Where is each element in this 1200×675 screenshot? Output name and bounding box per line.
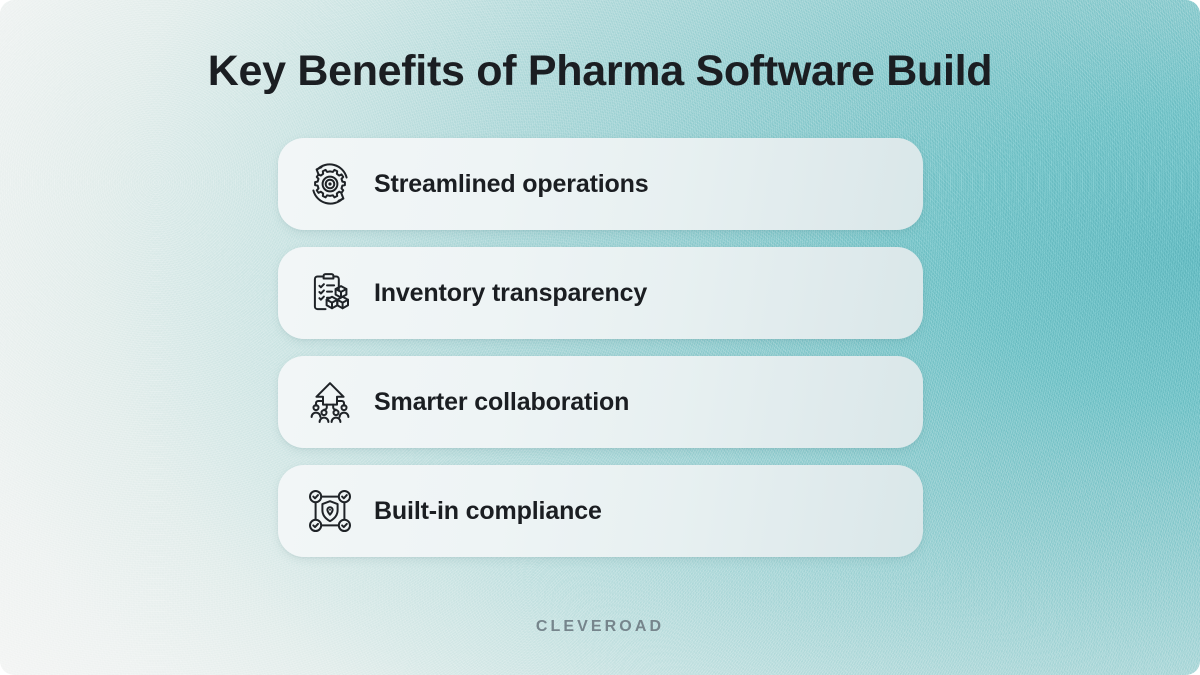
slide-canvas: Key Benefits of Pharma Software Build xyxy=(0,0,1200,675)
benefits-list: Streamlined operations xyxy=(278,138,923,557)
team-network-arrow-up-icon xyxy=(304,376,356,428)
benefit-card-inventory-transparency[interactable]: Inventory transparency xyxy=(278,247,923,339)
benefit-label: Built-in compliance xyxy=(374,496,602,526)
benefit-card-smarter-collaboration[interactable]: Smarter collaboration xyxy=(278,356,923,448)
shield-location-checkmarks-icon xyxy=(304,485,356,537)
benefit-label: Inventory transparency xyxy=(374,278,647,308)
page-title: Key Benefits of Pharma Software Build xyxy=(0,42,1200,100)
benefit-label: Smarter collaboration xyxy=(374,387,629,417)
benefit-card-streamlined-operations[interactable]: Streamlined operations xyxy=(278,138,923,230)
benefit-label: Streamlined operations xyxy=(374,169,649,199)
benefit-card-built-in-compliance[interactable]: Built-in compliance xyxy=(278,465,923,557)
clipboard-checklist-boxes-icon xyxy=(304,267,356,319)
cleveroad-logo: CLEVEROAD xyxy=(0,618,1200,636)
gear-refresh-icon xyxy=(304,158,356,210)
